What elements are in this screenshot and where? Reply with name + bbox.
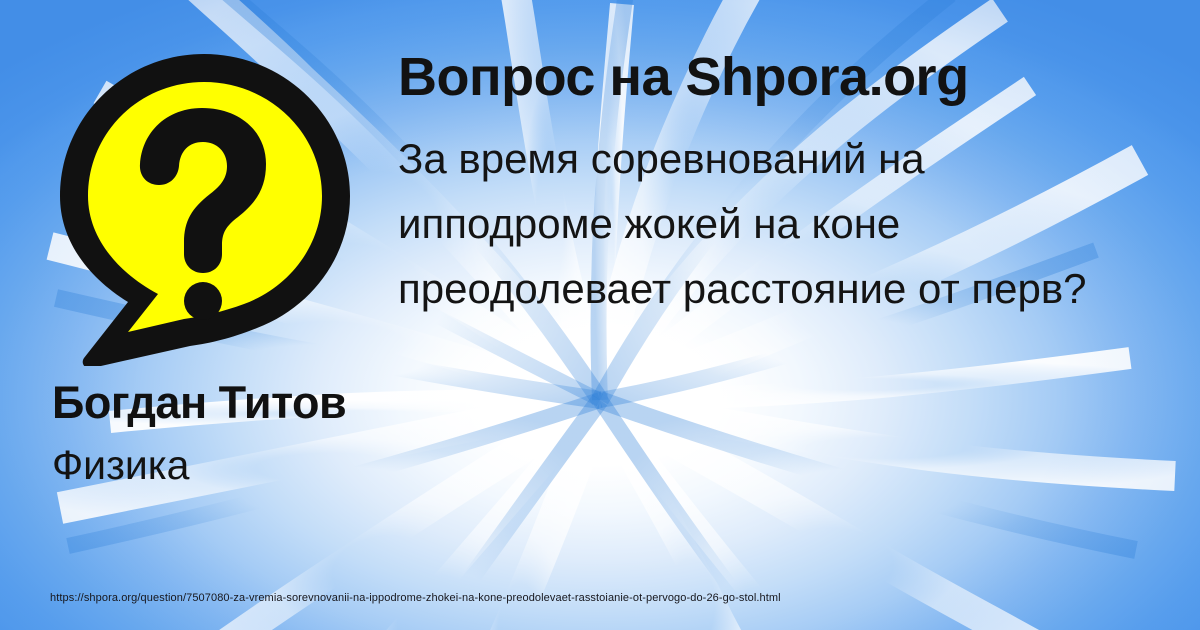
question-speech-bubble-icon	[52, 46, 362, 366]
page-title: Вопрос на Shpora.org	[398, 46, 1098, 108]
question-glyph-dot	[184, 282, 222, 320]
question-mark-icon	[52, 46, 362, 366]
question-text: За время соревнований на ипподроме жокей…	[398, 126, 1088, 321]
question-share-card: Вопрос на Shpora.org За время соревнован…	[0, 0, 1200, 630]
author-name: Богдан Титов	[52, 378, 382, 428]
author-subject: Физика	[52, 442, 382, 488]
author-block: Богдан Титов Физика	[52, 378, 382, 488]
source-url[interactable]: https://shpora.org/question/7507080-za-v…	[50, 591, 781, 605]
question-column: Вопрос на Shpora.org За время соревнован…	[398, 46, 1098, 321]
